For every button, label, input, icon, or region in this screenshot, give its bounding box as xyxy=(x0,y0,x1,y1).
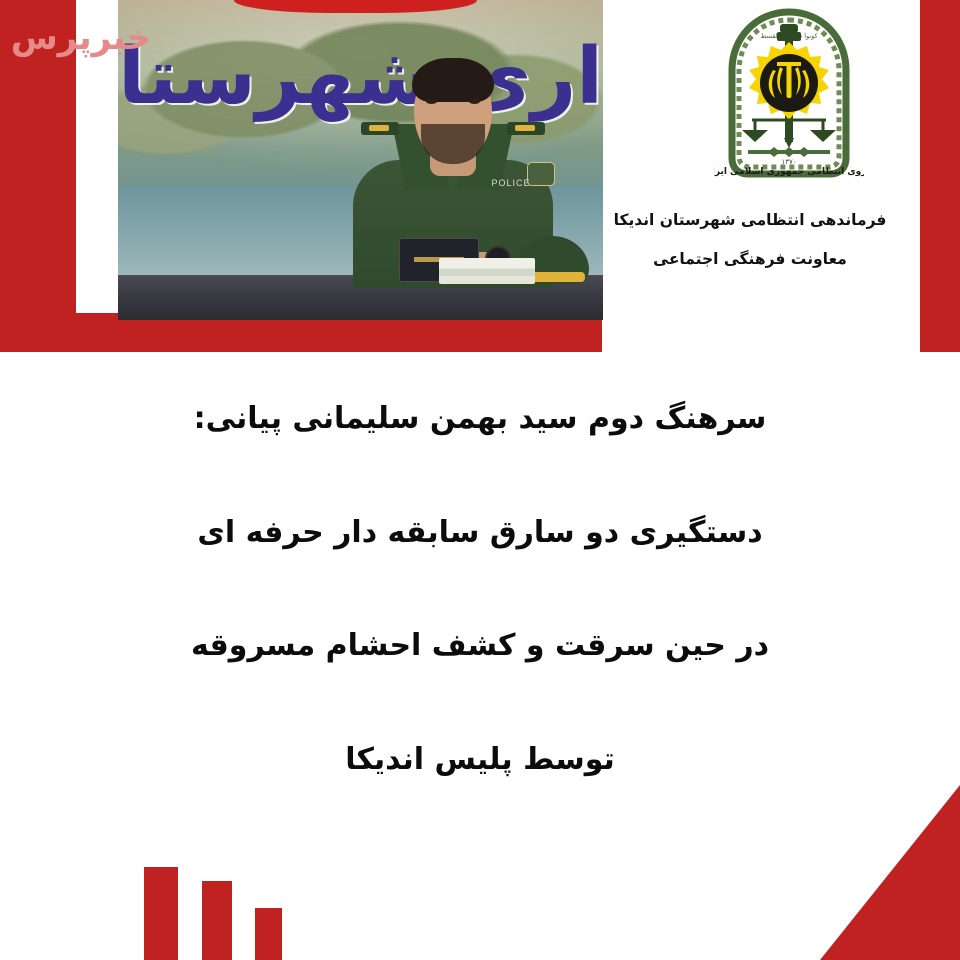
commander-photo: اری شهرستان POLICE xyxy=(118,0,603,320)
naja-police-logo: ۱۳۷۰ نیروی انتظامی جمهوری اسلامی ایران ک… xyxy=(714,8,864,180)
decor-bar-2 xyxy=(202,881,232,960)
banner-headline-text: اری شهرستان xyxy=(118,32,603,122)
body-line-3: در حین سرقت و کشف احشام مسروقه xyxy=(100,627,860,665)
announcement-body: سرهنگ دوم سید بهمن سلیمانی پیانی: دستگیر… xyxy=(100,400,860,778)
epaulette-right xyxy=(507,122,545,135)
red-bar-left xyxy=(0,0,76,352)
decor-bar-3 xyxy=(255,908,282,960)
body-line-4: توسط پلیس اندیکا xyxy=(100,741,860,779)
svg-text:نیروی انتظامی جمهوری اسلامی ای: نیروی انتظامی جمهوری اسلامی ایران xyxy=(714,167,864,177)
body-line-1: سرهنگ دوم سید بهمن سلیمانی پیانی: xyxy=(100,400,860,438)
officer-hair xyxy=(412,58,494,102)
officer-eye-right xyxy=(469,99,480,104)
decor-bar-chart xyxy=(144,850,344,960)
red-corner-triangle xyxy=(820,785,960,960)
desk-books xyxy=(439,258,535,284)
header-line-2: معاونت فرهنگی اجتماعی xyxy=(600,251,900,268)
header-line-1: فرماندهی انتظامی شهرستان اندیکا xyxy=(600,212,900,229)
svg-text:کونوا قوامین بالقسط: کونوا قوامین بالقسط xyxy=(760,32,818,40)
officer-figure: POLICE xyxy=(353,118,553,288)
epaulette-left xyxy=(361,122,399,135)
svg-text:۱۳۷۰: ۱۳۷۰ xyxy=(781,158,796,166)
shoulder-patch-icon xyxy=(527,162,555,186)
organization-header: فرماندهی انتظامی شهرستان اندیکا معاونت ف… xyxy=(600,212,900,290)
poster-canvas: خبرپرس اری شهرستان POLICE xyxy=(0,0,960,960)
body-line-2: دستگیری دو سارق سابقه دار حرفه ای xyxy=(100,514,860,552)
officer-eye-left xyxy=(426,99,437,104)
decor-bar-1 xyxy=(144,867,178,960)
red-bar-right xyxy=(920,0,960,352)
police-name-tag: POLICE xyxy=(491,178,530,188)
